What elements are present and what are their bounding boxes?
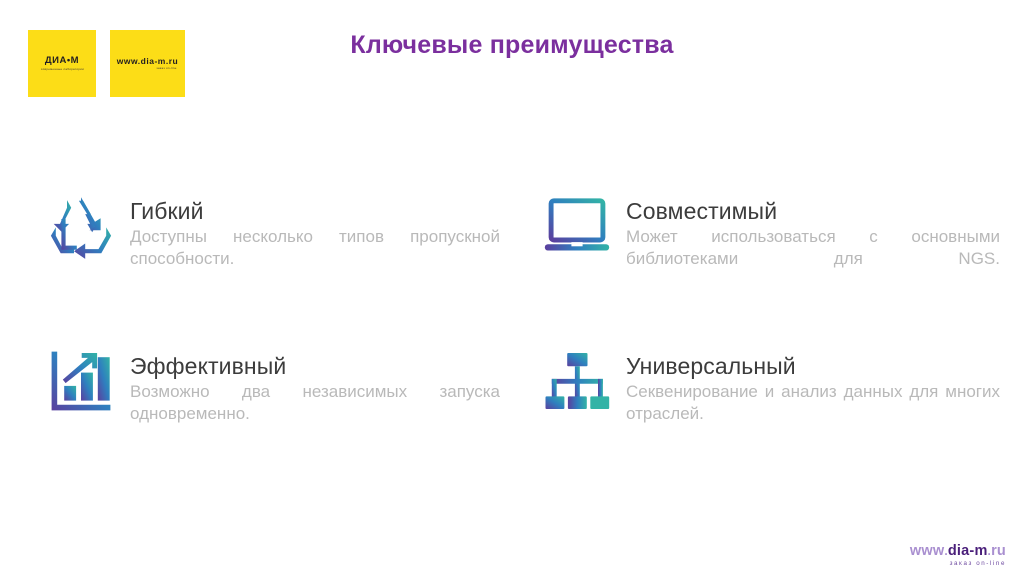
feature-title: Универсальный [626, 354, 1000, 379]
feature-description: Секвенирование и анализ данных для многи… [626, 381, 1000, 447]
diam-logo-tagline: современные лаборатории [40, 68, 83, 71]
feature-card-universal: Универсальный Секвенирование и анализ да… [0, 345, 1000, 500]
footer-logo-www: www [910, 543, 944, 559]
laptop-icon [542, 190, 612, 262]
dia-m-site-logo-tagline: заказ on-line [156, 67, 176, 70]
feature-card-compatible: Совместимый Может использоваться с основ… [0, 190, 1000, 345]
feature-title: Совместимый [626, 199, 1000, 224]
footer-logo-tagline: заказ on-line [910, 561, 1006, 567]
feature-description: Может использоваться с основными библиот… [626, 226, 1000, 292]
footer-logo-url: www.dia-m.ru [910, 544, 1006, 559]
hierarchy-icon [542, 345, 612, 417]
features-grid: Гибкий Доступны несколько типов пропускн… [0, 190, 1024, 500]
footer-logo-tld: ru [991, 543, 1006, 559]
footer-logo-name: dia-m [948, 543, 988, 559]
feature-text-universal: Универсальный Секвенирование и анализ да… [626, 345, 1000, 447]
footer-dia-m-logo: www.dia-m.ru заказ on-line [910, 544, 1006, 567]
feature-text-compatible: Совместимый Может использоваться с основ… [626, 190, 1000, 292]
page-title: Ключевые преимущества [0, 31, 1024, 60]
